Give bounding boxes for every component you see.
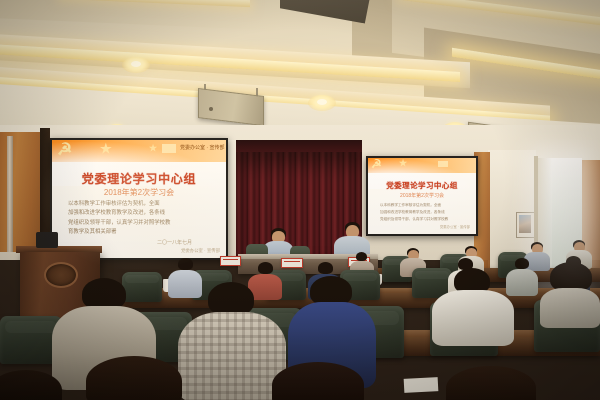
speaker-knob-left (209, 107, 213, 111)
main-slide-body-line-4: 育教学及其相关部署 (68, 228, 214, 237)
foreground-head-center-hair (272, 362, 364, 400)
foreground-head-center (272, 362, 364, 400)
main-slide-body: 以本科教学工作审核评估为契机，全面 加强和改进学校教育教学及改进，各条线 党组织… (68, 200, 214, 238)
attendee-front-checkered (178, 282, 286, 400)
main-screen-frame: ☭ ★ ★ 党委办公室 · 宣传部 党委理论学习中心组 2018年第2次学习会 … (50, 138, 228, 260)
attendee-front-right-torso (540, 288, 600, 328)
main-slide: ☭ ★ ★ 党委办公室 · 宣传部 党委理论学习中心组 2018年第2次学习会 … (52, 140, 226, 258)
attendee-front-checkered-torso (178, 312, 286, 400)
foreground-head-right-hair (446, 366, 536, 400)
main-slide-signature: 二〇一八年七月 (52, 239, 192, 246)
star-icon-side: ★ (399, 159, 407, 168)
lectern-microphone-icon (36, 232, 58, 248)
logo-mark-icon (162, 144, 176, 153)
main-slide-body-line-2: 加强和改进学校教育教学及改进，各条线 (68, 209, 214, 218)
logo-mark-icon-side (438, 161, 448, 167)
side-slide-subtitle: 2018年第2次学习会 (368, 192, 476, 199)
attendee-front-right-head (540, 262, 600, 322)
side-slide-footer: 党委办公室 · 宣传部 (368, 224, 470, 229)
nameplate-1 (220, 256, 241, 266)
foreground-head-far-left-hair (0, 370, 62, 400)
left-wall-metal-strip (7, 136, 13, 252)
main-slide-title: 党委理论学习中心组 (52, 170, 226, 187)
main-slide-body-line-3: 党组织及领导干部，认真学习并对照学校教 (68, 219, 214, 228)
hammer-sickle-icon-side: ☭ (371, 158, 382, 170)
side-screen-frame: ☭ ★ 党委理论学习中心组 2018年第2次学习会 以本科教学工作审核评估为契机… (366, 156, 478, 236)
side-slide: ☭ ★ 党委理论学习中心组 2018年第2次学习会 以本科教学工作审核评估为契机… (368, 158, 476, 234)
attendee-front-white-shirt (432, 268, 514, 344)
nameplate-2 (281, 258, 303, 268)
side-slide-title: 党委理论学习中心组 (368, 180, 476, 191)
meeting-photo-scene: ☭ ★ ★ 党委办公室 · 宣传部 党委理论学习中心组 2018年第2次学习会 … (0, 0, 600, 400)
main-slide-body-line-1: 以本科教学工作审核评估为契机，全面 (68, 200, 214, 209)
attendee-mid-4-hair (515, 258, 529, 269)
side-slide-body-line-3: 党组织及领导干部，认真学习并对照学校教 (380, 216, 466, 223)
star-icon-secondary: ★ (149, 144, 157, 153)
foreground-head-far-left (0, 370, 62, 400)
attendee-back-5-hair (356, 252, 367, 261)
framed-picture-image (519, 215, 531, 233)
side-slide-body-line-1: 以本科教学工作审核评估为契机，全面 (380, 202, 466, 209)
attendee-mid-2-hair (318, 262, 333, 274)
hammer-sickle-icon: ☭ (57, 141, 72, 158)
desk-paper-2 (404, 377, 439, 393)
foreground-head-right (446, 366, 536, 400)
attendee-front-white-torso (432, 290, 514, 346)
foreground-head-left (86, 356, 182, 400)
main-slide-subtitle: 2018年第2次学习会 (52, 187, 226, 198)
foreground-head-left-hair (86, 356, 182, 400)
downlight-2-core (317, 99, 327, 105)
attendee-front-checkered-hair (208, 282, 254, 316)
attendee-mid-6-hair (178, 258, 193, 270)
star-icon-main: ★ (100, 142, 112, 155)
attendee-mid-1-hair (258, 262, 273, 274)
downlight-1-core (131, 61, 141, 67)
side-slide-body-line-2: 加强和改进学校教育教学及改进，各条线 (380, 209, 466, 216)
main-slide-banner-logotext: 党委办公室 · 宣传部 (180, 144, 224, 151)
side-slide-body: 以本科教学工作审核评估为契机，全面 加强和改进学校教育教学及改进，各条线 党组织… (380, 202, 466, 222)
